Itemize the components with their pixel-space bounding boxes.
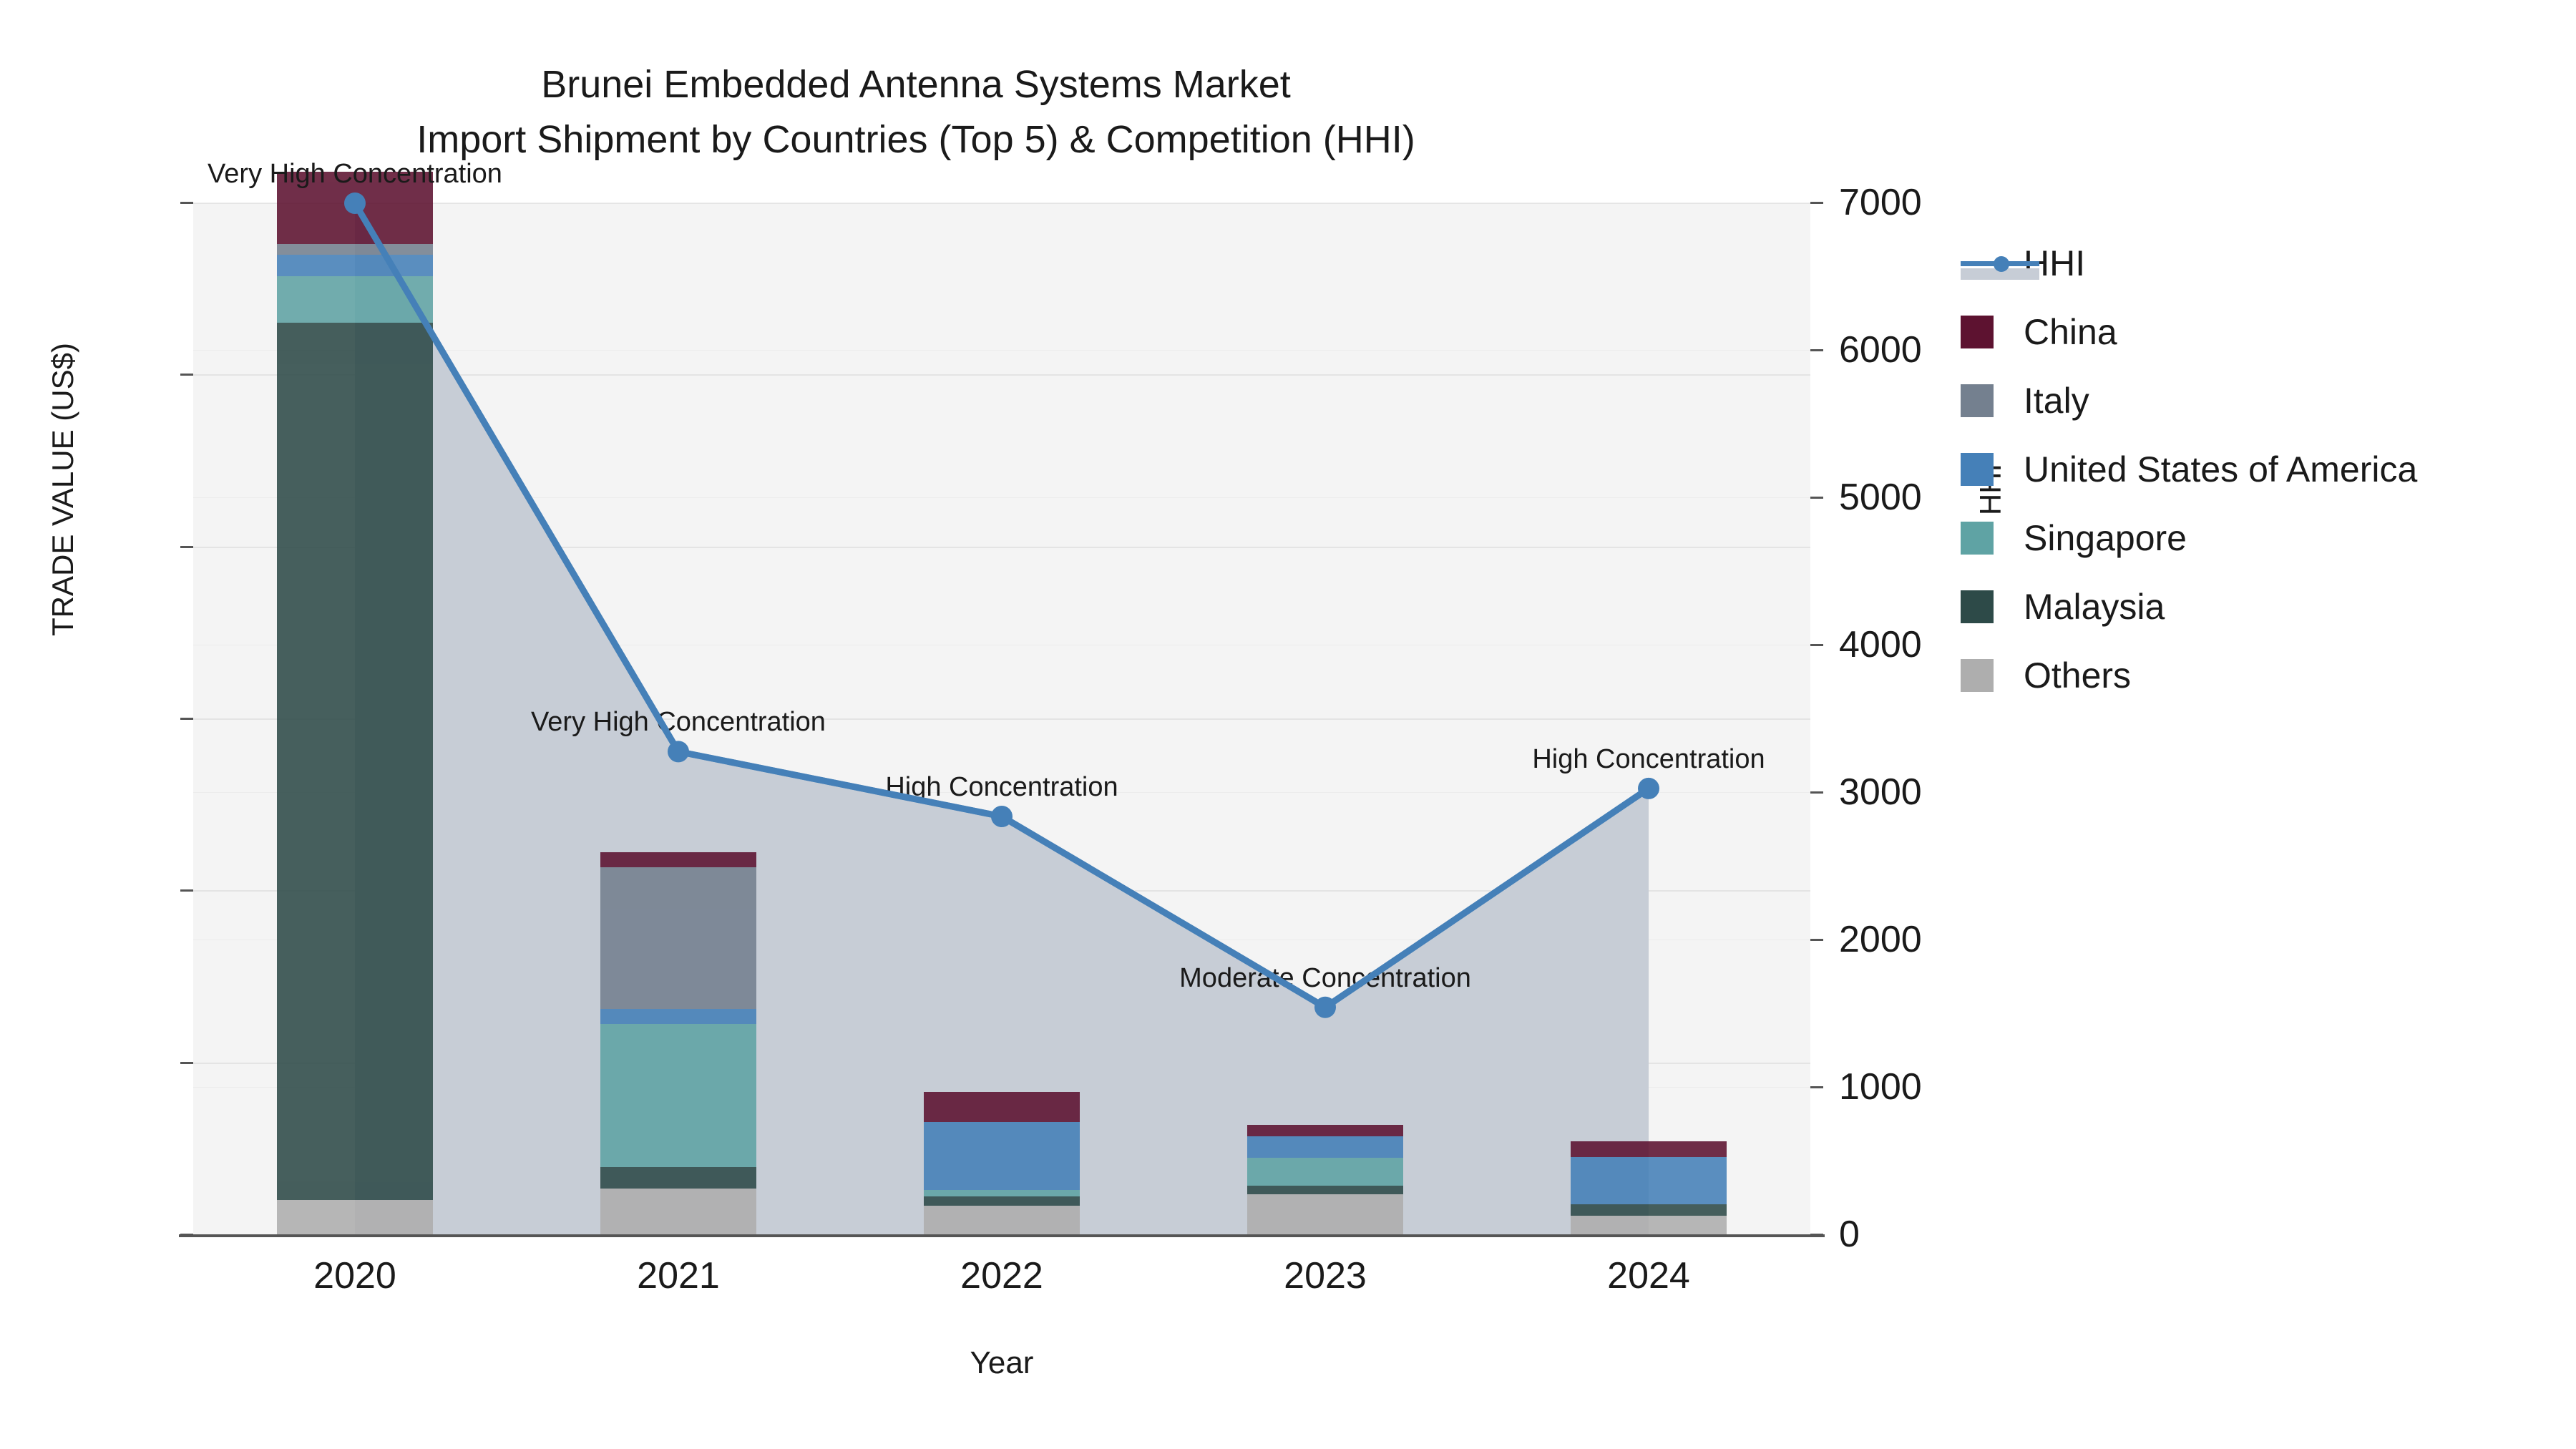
legend-item-singapore[interactable]: Singapore (1961, 504, 2547, 572)
y-tick-mark-left (180, 1062, 193, 1064)
y-tick-label-right: 3000 (1839, 771, 2125, 814)
bar-segment[interactable] (600, 867, 756, 1009)
chart-title: Brunei Embedded Antenna Systems Market I… (0, 57, 1832, 167)
bar-segment[interactable] (600, 852, 756, 867)
concentration-annotation: Very High Concentration (208, 159, 502, 190)
y-tick-mark-right (1810, 644, 1823, 646)
x-tick-label: 2021 (571, 1254, 786, 1297)
y-tick-label-right: 1000 (1839, 1065, 2125, 1108)
chart-title-line1: Brunei Embedded Antenna Systems Market (541, 63, 1291, 106)
bar-segment[interactable] (277, 255, 433, 276)
legend-swatch (1961, 659, 1994, 692)
bar-segment[interactable] (600, 1024, 756, 1168)
legend-label: Malaysia (2024, 586, 2165, 628)
y-tick-mark-left (180, 202, 193, 204)
legend-swatch (1961, 453, 1994, 486)
legend-label: Italy (2024, 380, 2089, 421)
x-tick-label: 2024 (1541, 1254, 1756, 1297)
concentration-annotation: High Concentration (1532, 744, 1765, 775)
bar-segment[interactable] (924, 1190, 1080, 1197)
legend-item-china[interactable]: China (1961, 298, 2547, 366)
bar-stack[interactable] (600, 852, 756, 1234)
bar-stack[interactable] (924, 1092, 1080, 1234)
y-tick-label-right: 7000 (1839, 181, 2125, 224)
bar-segment[interactable] (1247, 1136, 1403, 1158)
bar-segment[interactable] (1571, 1216, 1727, 1234)
concentration-annotation: Moderate Concentration (1179, 963, 1471, 994)
legend-label: Singapore (2024, 517, 2187, 559)
bar-stack[interactable] (277, 172, 433, 1234)
x-tick-label: 2020 (248, 1254, 462, 1297)
x-axis-label: Year (193, 1345, 1810, 1381)
bar-segment[interactable] (924, 1092, 1080, 1122)
legend-swatch (1961, 384, 1994, 417)
bar-stack[interactable] (1247, 1125, 1403, 1234)
chart-root: Brunei Embedded Antenna Systems Market I… (0, 0, 2576, 1449)
legend-item-others[interactable]: Others (1961, 641, 2547, 710)
hhi-line-series (193, 203, 1810, 1234)
legend-item-hhi[interactable]: HHI (1961, 229, 2547, 298)
legend-label: China (2024, 311, 2117, 353)
legend-swatch (1961, 316, 1994, 348)
legend-item-united-states-of-america[interactable]: United States of America (1961, 435, 2547, 504)
y-tick-mark-left (180, 374, 193, 376)
y-tick-mark-right (1810, 349, 1823, 351)
x-axis-line (179, 1234, 1825, 1237)
chart-legend: HHIChinaItalyUnited States of AmericaSin… (1961, 229, 2547, 710)
y-tick-label-right: 2000 (1839, 918, 2125, 961)
y-tick-mark-right (1810, 1086, 1823, 1088)
bar-segment[interactable] (1571, 1204, 1727, 1216)
bar-segment[interactable] (1247, 1125, 1403, 1136)
bar-segment[interactable] (277, 276, 433, 323)
bar-stack[interactable] (1571, 1141, 1727, 1234)
y-tick-mark-right (1810, 791, 1823, 794)
y-tick-mark-left (180, 889, 193, 892)
y-tick-mark-right (1810, 939, 1823, 941)
y-tick-label-right: 0 (1839, 1213, 2125, 1256)
bar-segment[interactable] (277, 1200, 433, 1234)
y-tick-mark-right (1810, 497, 1823, 499)
legend-line-marker (1961, 247, 2039, 280)
bar-segment[interactable] (277, 323, 433, 1200)
bar-segment[interactable] (1571, 1141, 1727, 1157)
concentration-annotation: Very High Concentration (531, 707, 826, 738)
bar-segment[interactable] (924, 1122, 1080, 1190)
bar-segment[interactable] (924, 1196, 1080, 1206)
bar-segment[interactable] (924, 1206, 1080, 1234)
bar-segment[interactable] (600, 1167, 756, 1189)
y-axis-label-left: TRADE VALUE (US$) (46, 239, 80, 740)
x-tick-label: 2023 (1218, 1254, 1433, 1297)
concentration-annotation: High Concentration (885, 772, 1118, 803)
y-tick-mark-left (180, 718, 193, 720)
plot-area: 0100k200k300k400k500k600k010002000300040… (193, 203, 1810, 1234)
legend-swatch (1961, 590, 1994, 623)
legend-swatch (1961, 522, 1994, 555)
legend-label: United States of America (2024, 449, 2417, 490)
legend-item-italy[interactable]: Italy (1961, 366, 2547, 435)
bar-segment[interactable] (1247, 1158, 1403, 1185)
x-tick-label: 2022 (894, 1254, 1109, 1297)
bar-segment[interactable] (277, 244, 433, 255)
y-tick-mark-right (1810, 202, 1823, 204)
bar-segment[interactable] (1247, 1194, 1403, 1234)
legend-label: Others (2024, 655, 2131, 696)
bar-segment[interactable] (1571, 1157, 1727, 1204)
bar-segment[interactable] (600, 1009, 756, 1023)
bar-segment[interactable] (1247, 1186, 1403, 1194)
legend-item-malaysia[interactable]: Malaysia (1961, 572, 2547, 641)
y-tick-mark-left (180, 546, 193, 548)
bar-segment[interactable] (600, 1189, 756, 1234)
